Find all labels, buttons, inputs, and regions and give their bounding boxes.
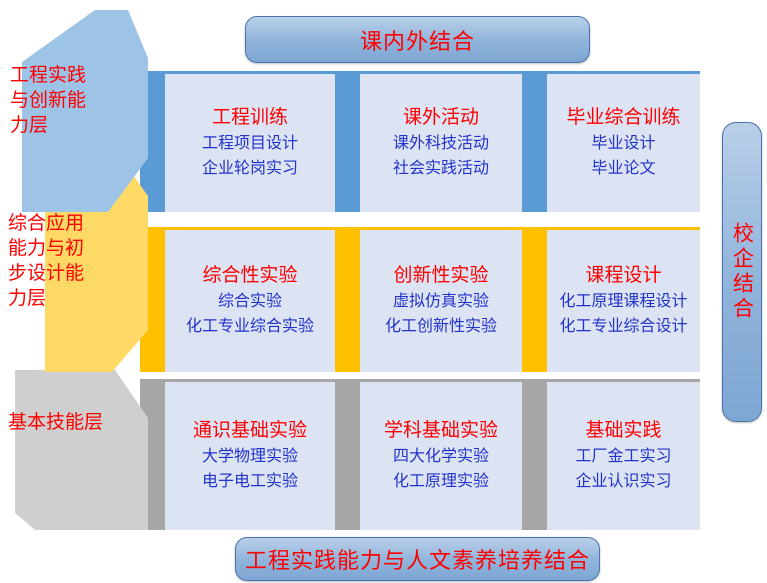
cell-r2c1[interactable]: 综合性实验 综合实验 化工专业综合实验 xyxy=(165,230,335,372)
cell-r2c2-sub-2: 化工创新性实验 xyxy=(385,315,497,340)
cell-r2c3-sub-1: 化工原理课程设计 xyxy=(559,290,687,315)
diagram-canvas: 工程训练 工程项目设计 企业轮岗实习 课外活动 课外科技活动 社会实践活动 毕业… xyxy=(0,0,767,583)
layer-label-comprehensive-application: 综合应用 能力与初 步设计能 力层 xyxy=(8,211,138,311)
cell-r3c3[interactable]: 基础实践 工厂金工实习 企业认识实习 xyxy=(547,382,700,530)
cell-r2c2-title: 创新性实验 xyxy=(393,262,488,290)
cell-r3c2-title: 学科基础实验 xyxy=(384,417,498,445)
cell-r1c1-sub-1: 工程项目设计 xyxy=(202,132,298,157)
layer-shape-basic-skills xyxy=(15,370,148,530)
layer-label-engineering-practice: 工程实践 与创新能 力层 xyxy=(10,63,130,138)
cell-r2c3-title: 课程设计 xyxy=(585,262,661,290)
callout-bottom[interactable]: 工程实践能力与人文素养培养结合 xyxy=(235,537,600,581)
cell-r3c3-title: 基础实践 xyxy=(585,417,661,445)
cell-r3c3-sub-2: 企业认识实习 xyxy=(575,470,671,495)
cell-r1c1-title: 工程训练 xyxy=(212,104,288,132)
cell-r1c3-sub-1: 毕业设计 xyxy=(591,132,655,157)
callout-top-text: 课内外结合 xyxy=(360,24,475,56)
row-3-separator-1 xyxy=(335,382,360,530)
cell-r1c1[interactable]: 工程训练 工程项目设计 企业轮岗实习 xyxy=(165,74,335,212)
cell-r3c1-title: 通识基础实验 xyxy=(193,417,307,445)
cell-r2c3[interactable]: 课程设计 化工原理课程设计 化工专业综合设计 xyxy=(547,230,700,372)
cell-r1c1-sub-2: 企业轮岗实习 xyxy=(202,157,298,182)
callout-top[interactable]: 课内外结合 xyxy=(245,16,590,63)
row-1-separator-1 xyxy=(335,74,360,212)
row-2-separator-1 xyxy=(335,230,360,372)
cell-r1c3-sub-2: 毕业论文 xyxy=(591,157,655,182)
cell-r3c2-sub-1: 四大化学实验 xyxy=(393,445,489,470)
cell-r3c2[interactable]: 学科基础实验 四大化学实验 化工原理实验 xyxy=(360,382,522,530)
callout-bottom-text: 工程实践能力与人文素养培养结合 xyxy=(245,543,590,575)
cell-r3c1-sub-2: 电子电工实验 xyxy=(202,470,298,495)
cell-r1c3-title: 毕业综合训练 xyxy=(566,104,680,132)
cell-r1c3[interactable]: 毕业综合训练 毕业设计 毕业论文 xyxy=(547,74,700,212)
cell-r3c1-sub-1: 大学物理实验 xyxy=(202,445,298,470)
cell-r2c3-sub-2: 化工专业综合设计 xyxy=(559,315,687,340)
cell-r3c3-sub-1: 工厂金工实习 xyxy=(575,445,671,470)
cell-r1c2[interactable]: 课外活动 课外科技活动 社会实践活动 xyxy=(360,74,522,212)
cell-r1c2-sub-1: 课外科技活动 xyxy=(393,132,489,157)
row-3-separator-2 xyxy=(522,382,547,530)
cell-r2c2[interactable]: 创新性实验 虚拟仿真实验 化工创新性实验 xyxy=(360,230,522,372)
cell-r2c1-title: 综合性实验 xyxy=(202,262,297,290)
row-2-separator-2 xyxy=(522,230,547,372)
cell-r2c1-sub-1: 综合实验 xyxy=(218,290,282,315)
callout-right-text: 校企结合 xyxy=(732,222,753,322)
cell-r2c1-sub-2: 化工专业综合实验 xyxy=(186,315,314,340)
cell-r3c2-sub-2: 化工原理实验 xyxy=(393,470,489,495)
cell-r1c2-sub-2: 社会实践活动 xyxy=(393,157,489,182)
callout-right[interactable]: 校企结合 xyxy=(722,122,762,422)
layer-label-basic-skills: 基本技能层 xyxy=(8,410,148,435)
row-1-separator-2 xyxy=(522,74,547,212)
cell-r2c2-sub-1: 虚拟仿真实验 xyxy=(393,290,489,315)
cell-r1c2-title: 课外活动 xyxy=(403,104,479,132)
cell-r3c1[interactable]: 通识基础实验 大学物理实验 电子电工实验 xyxy=(165,382,335,530)
